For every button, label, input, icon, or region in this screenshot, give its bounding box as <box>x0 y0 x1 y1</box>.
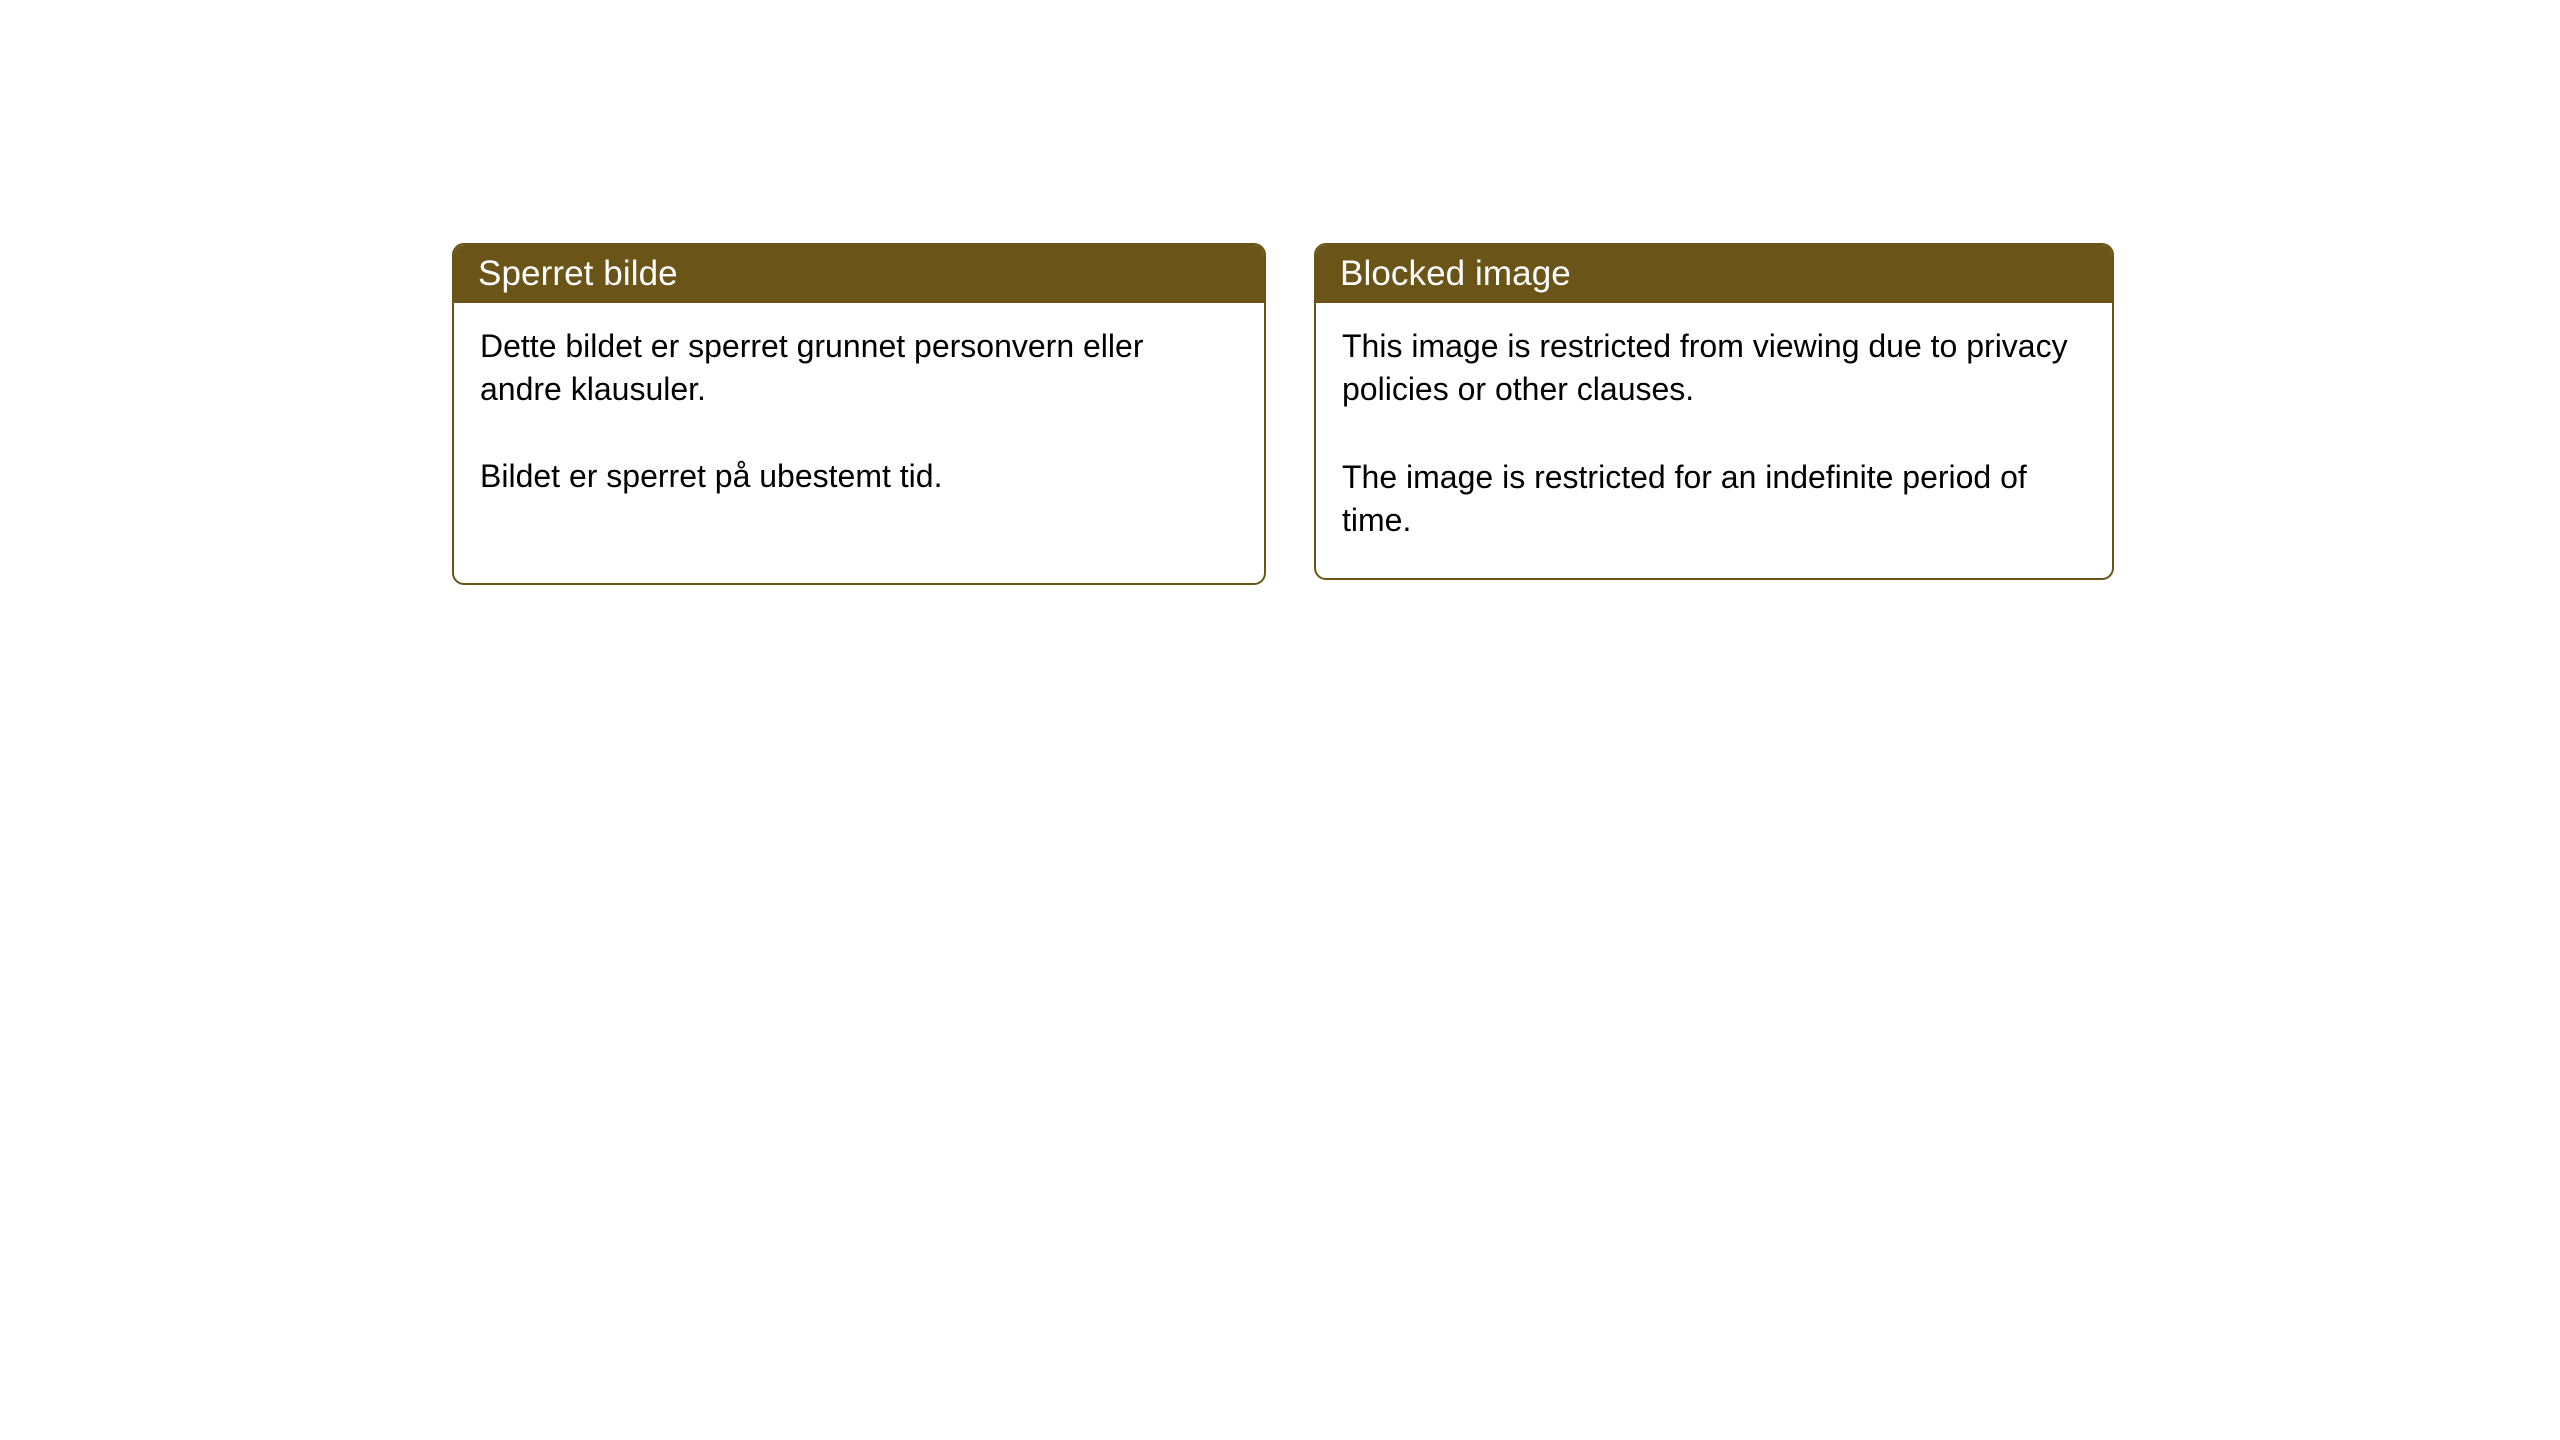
blocked-image-card-english: Blocked image This image is restricted f… <box>1314 243 2114 580</box>
blocked-image-card-norwegian: Sperret bilde Dette bildet er sperret gr… <box>452 243 1266 585</box>
card-paragraph-norwegian-2: Bildet er sperret på ubestemt tid. <box>480 455 1180 498</box>
card-body-norwegian: Dette bildet er sperret grunnet personve… <box>454 303 1264 498</box>
card-title-norwegian: Sperret bilde <box>478 254 678 294</box>
card-header-english: Blocked image <box>1316 245 2112 303</box>
card-header-norwegian: Sperret bilde <box>454 245 1264 303</box>
paragraph-spacer-english <box>1342 411 2086 456</box>
card-title-english: Blocked image <box>1340 254 1571 294</box>
card-paragraph-english-2: The image is restricted for an indefinit… <box>1342 456 2086 542</box>
card-paragraph-norwegian-1: Dette bildet er sperret grunnet personve… <box>480 325 1180 411</box>
paragraph-spacer-norwegian <box>480 411 1238 455</box>
notice-board: Sperret bilde Dette bildet er sperret gr… <box>0 0 2560 1440</box>
card-paragraph-english-1: This image is restricted from viewing du… <box>1342 325 2086 411</box>
card-body-english: This image is restricted from viewing du… <box>1316 303 2112 542</box>
